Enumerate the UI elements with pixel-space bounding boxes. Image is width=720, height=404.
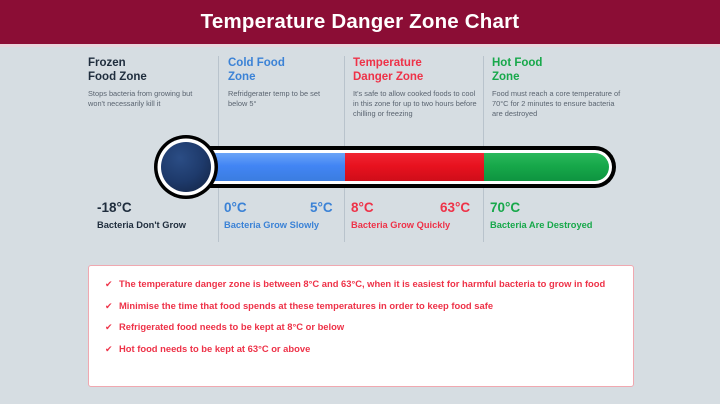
- thermometer-bulb: [161, 142, 211, 192]
- temp-cold-label: Bacteria Grow Slowly: [224, 220, 319, 230]
- zone-hot-description: Food must reach a core temperature of 70…: [492, 89, 623, 120]
- thermometer-tube-outline: [186, 146, 616, 188]
- check-icon: ✔: [103, 278, 119, 290]
- header-divider: [0, 44, 720, 47]
- note-item: ✔ Minimise the time that food spends at …: [103, 300, 617, 313]
- note-text: The temperature danger zone is between 8…: [119, 278, 605, 291]
- temperature-scale: -18°C Bacteria Don't Grow 0°C 5°C Bacter…: [0, 200, 720, 242]
- temp-danger-high: 63°C: [440, 200, 470, 215]
- zone-hot-title: Hot Food Zone: [492, 56, 623, 84]
- note-item: ✔ Hot food needs to be kept at 63°C or a…: [103, 343, 617, 356]
- note-item: ✔ Refrigerated food needs to be kept at …: [103, 321, 617, 334]
- zone-danger-description: It's safe to allow cooked foods to cool …: [353, 89, 478, 120]
- temp-hot-low: 70°C: [490, 200, 520, 215]
- temp-cold-high: 5°C: [310, 200, 333, 215]
- note-text: Hot food needs to be kept at 63°C or abo…: [119, 343, 310, 356]
- thermometer-bulb-outline: [154, 135, 218, 199]
- check-icon: ✔: [103, 300, 119, 312]
- note-text: Minimise the time that food spends at th…: [119, 300, 493, 313]
- thermometer-bulb-ring: [158, 139, 215, 196]
- zone-hot: Hot Food Zone Food must reach a core tem…: [492, 56, 633, 120]
- thermometer-tube-inner: [190, 150, 612, 184]
- zone-danger: Temperature Danger Zone It's safe to all…: [353, 56, 488, 120]
- page-header: Temperature Danger Zone Chart: [0, 0, 720, 44]
- temp-danger-label: Bacteria Grow Quickly: [351, 220, 450, 230]
- zone-cold-title: Cold Food Zone: [228, 56, 336, 84]
- chart-page: Temperature Danger Zone Chart Frozen Foo…: [0, 0, 720, 404]
- temp-cold-low: 0°C: [224, 200, 247, 215]
- zone-cold: Cold Food Zone Refridgerater temp to be …: [228, 56, 346, 109]
- zone-headers: Frozen Food Zone Stops bacteria from gro…: [88, 56, 633, 134]
- check-icon: ✔: [103, 321, 119, 333]
- zone-danger-title: Temperature Danger Zone: [353, 56, 478, 84]
- check-icon: ✔: [103, 343, 119, 355]
- thermometer-segment-cold: [193, 153, 345, 181]
- thermometer-segment-danger: [345, 153, 484, 181]
- zone-frozen-description: Stops bacteria from growing but won't ne…: [88, 89, 204, 109]
- temp-frozen-label: Bacteria Don't Grow: [97, 220, 186, 230]
- page-title: Temperature Danger Zone Chart: [201, 10, 520, 34]
- zone-frozen: Frozen Food Zone Stops bacteria from gro…: [88, 56, 214, 109]
- temp-hot-label: Bacteria Are Destroyed: [490, 220, 592, 230]
- note-text: Refrigerated food needs to be kept at 8°…: [119, 321, 344, 334]
- zone-frozen-title: Frozen Food Zone: [88, 56, 204, 84]
- zone-cold-description: Refridgerater temp to be set below 5°: [228, 89, 336, 109]
- thermometer-segment-hot: [484, 153, 609, 181]
- notes-box: ✔ The temperature danger zone is between…: [88, 265, 634, 387]
- temp-danger-low: 8°C: [351, 200, 374, 215]
- temp-frozen-value: -18°C: [97, 200, 132, 215]
- note-item: ✔ The temperature danger zone is between…: [103, 278, 617, 291]
